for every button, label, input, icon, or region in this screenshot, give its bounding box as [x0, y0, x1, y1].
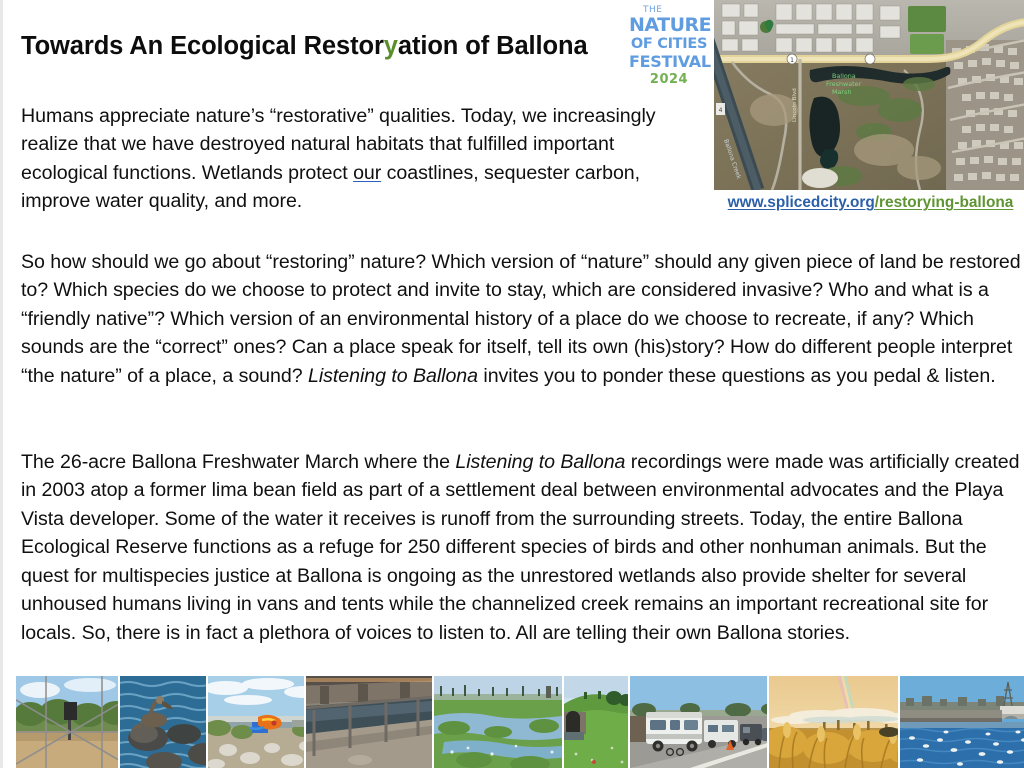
p1-inline-link-our[interactable]: our	[353, 162, 381, 184]
title-prefix: Towards An Ecological Restor	[21, 32, 384, 60]
p3-italic-title: Listening to Ballona	[455, 451, 625, 473]
photo-pelican-on-rocks	[120, 676, 206, 768]
logo-line-year: 2024	[629, 73, 709, 86]
aerial-map-image: 1 Ballona Freshwater Marsh Ballona Creek…	[714, 0, 1024, 190]
photo-graffiti-shoreline	[208, 676, 303, 768]
logo-line-of-cities: OF CITIES	[629, 37, 709, 52]
map-label-marsh-line1: Ballona	[832, 72, 856, 80]
map-label-street-lincoln: Lincoln Blvd	[792, 88, 798, 122]
photo-wetland-green-pond	[434, 676, 563, 768]
presentation-slide: Towards An Ecological Restoryation of Ba…	[0, 0, 1024, 768]
photo-trail-fence-sign	[16, 676, 118, 768]
logo-line-nature: NATURE	[629, 16, 709, 35]
aerial-map-graphic: 1 Ballona Freshwater Marsh Ballona Creek…	[714, 0, 1024, 190]
map-highway-shield-label: 1	[790, 57, 794, 64]
body-paragraph-2: So how should we go about “restoring” na…	[21, 248, 1021, 391]
page-title: Towards An Ecological Restoryation of Ba…	[21, 31, 641, 61]
photo-channelized-creek-birds	[900, 676, 1024, 768]
logo-line-festival: FESTIVAL	[629, 54, 709, 70]
map-marker-label: 4	[719, 107, 723, 114]
map-label-marsh-line2: Freshwater	[826, 80, 862, 88]
p2-italic-title: Listening to Ballona	[308, 365, 478, 387]
map-label-marsh-line3: Marsh	[832, 88, 851, 96]
p3-segment-1: The 26-acre Ballona Freshwater March whe…	[21, 451, 455, 473]
photo-strip	[16, 676, 1024, 768]
photo-underpass-channel	[306, 676, 432, 768]
photo-green-hillside-culvert	[564, 676, 627, 768]
project-url-caption[interactable]: www.splicedcity.org/restorying-ballona	[714, 191, 1024, 215]
url-domain[interactable]: www.splicedcity.org	[728, 194, 875, 211]
p2-segment-2: invites you to ponder these questions as…	[478, 365, 996, 387]
title-suffix: ation of Ballona	[398, 32, 588, 60]
photo-golden-reeds-rainbow	[769, 676, 898, 768]
body-paragraph-3: The 26-acre Ballona Freshwater March whe…	[21, 448, 1021, 648]
url-path[interactable]: /restorying-ballona	[875, 194, 1014, 211]
p3-segment-2: recordings were made was artificially cr…	[21, 451, 1019, 644]
photo-rvs-parked-street	[630, 676, 768, 768]
body-paragraph-1: Humans appreciate nature’s “restorative”…	[21, 102, 681, 216]
festival-logo: THE NATURE OF CITIES FESTIVAL 2024	[629, 6, 709, 102]
title-story-y-highlight: y	[384, 32, 398, 60]
